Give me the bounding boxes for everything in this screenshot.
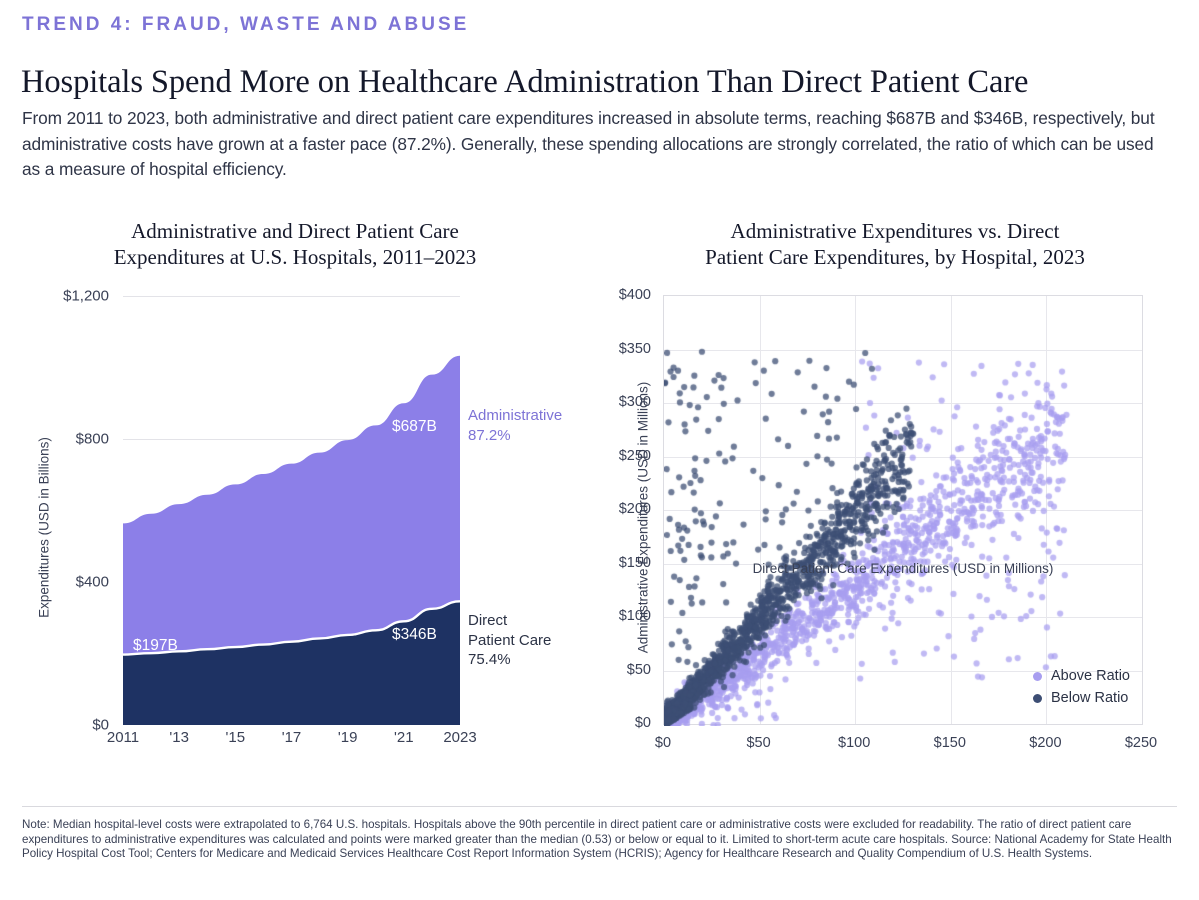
legend-label-below-ratio: Below Ratio <box>1051 690 1128 706</box>
area-x-ticks: 2011'13'15'17'19'212023 <box>123 729 460 753</box>
area-y-axis-label: Expenditures (USD in Billions) <box>37 418 52 638</box>
area-title-line2: Expenditures at U.S. Hospitals, 2011–202… <box>114 245 477 269</box>
area-chart: Administrative and Direct Patient Care E… <box>0 210 590 770</box>
area-x-tick: 2011 <box>107 729 139 746</box>
scatter-x-tick: $0 <box>655 735 671 751</box>
administrative-series-note: Administrative 87.2% <box>468 406 562 445</box>
scatter-x-tick: $200 <box>1029 735 1061 751</box>
scatter-y-tick: $350 <box>619 341 651 357</box>
administrative-growth-pct: 87.2% <box>468 427 511 444</box>
footnote-block: Note: Median hospital-level costs were e… <box>22 818 1180 862</box>
area-x-tick: 2023 <box>443 729 476 746</box>
scatter-y-tick: $200 <box>619 501 651 517</box>
dpc-series-name-line2: Patient Care <box>468 632 551 649</box>
scatter-y-tick: $150 <box>619 555 651 571</box>
area-x-tick: '17 <box>282 729 302 746</box>
area-x-tick: '19 <box>338 729 358 746</box>
administrative-end-label: $687B <box>392 418 437 436</box>
direct-patient-care-series-note: Direct Patient Care 75.4% <box>468 611 551 670</box>
area-series-svg <box>123 296 460 725</box>
scatter-legend: Above Ratio Below Ratio <box>1033 662 1130 712</box>
page-title: Hospitals Spend More on Healthcare Admin… <box>21 64 1028 101</box>
scatter-x-tick: $150 <box>934 735 966 751</box>
below-ratio-dot-icon <box>1033 694 1042 703</box>
legend-item-above-ratio[interactable]: Above Ratio <box>1033 668 1130 684</box>
above-ratio-dot-icon <box>1033 672 1042 681</box>
area-y-tick: $800 <box>76 431 109 448</box>
scatter-title-line1: Administrative Expenditures vs. Direct <box>731 219 1060 243</box>
scatter-plot-area: Above Ratio Below Ratio <box>663 295 1143 725</box>
scatter-x-axis-label: Direct Patient Care Expenditures (USD in… <box>663 561 1143 576</box>
legend-item-below-ratio[interactable]: Below Ratio <box>1033 690 1130 706</box>
scatter-x-tick: $100 <box>838 735 870 751</box>
legend-label-above-ratio: Above Ratio <box>1051 668 1130 684</box>
scatter-title-line2: Patient Care Expenditures, by Hospital, … <box>705 245 1085 269</box>
scatter-x-tick: $250 <box>1125 735 1157 751</box>
administrative-start-label: $367B <box>133 412 178 430</box>
dpc-growth-pct: 75.4% <box>468 651 511 668</box>
deck-paragraph: From 2011 to 2023, both administrative a… <box>22 106 1172 183</box>
scatter-y-tick: $0 <box>635 715 651 731</box>
direct-patient-care-end-label: $346B <box>392 626 437 644</box>
area-plot-area: $0$400$800$1,200 $367B $687B $197B $346B… <box>123 296 460 725</box>
direct-patient-care-start-label: $197B <box>133 637 178 655</box>
area-x-tick: '21 <box>394 729 414 746</box>
scatter-x-tick: $50 <box>746 735 770 751</box>
scatter-y-tick: $300 <box>619 394 651 410</box>
scatter-chart-title: Administrative Expenditures vs. Direct P… <box>635 218 1155 270</box>
area-title-line1: Administrative and Direct Patient Care <box>131 219 459 243</box>
area-chart-title: Administrative and Direct Patient Care E… <box>40 218 550 270</box>
administrative-series-name: Administrative <box>468 407 562 424</box>
footer-divider <box>22 806 1177 807</box>
area-x-tick: '15 <box>226 729 246 746</box>
scatter-y-tick: $50 <box>627 662 651 678</box>
eyebrow-trend-label: TREND 4: FRAUD, WASTE AND ABUSE <box>22 14 469 36</box>
infographic-page: TREND 4: FRAUD, WASTE AND ABUSE Hospital… <box>0 0 1199 900</box>
area-y-tick: $400 <box>76 574 109 591</box>
dpc-series-name-line1: Direct <box>468 612 507 629</box>
scatter-y-tick: $250 <box>619 448 651 464</box>
area-y-tick: $1,200 <box>63 288 109 305</box>
area-x-tick: '13 <box>169 729 189 746</box>
scatter-y-tick: $100 <box>619 608 651 624</box>
scatter-chart: Administrative Expenditures vs. Direct P… <box>590 210 1199 800</box>
scatter-y-tick: $400 <box>619 287 651 303</box>
